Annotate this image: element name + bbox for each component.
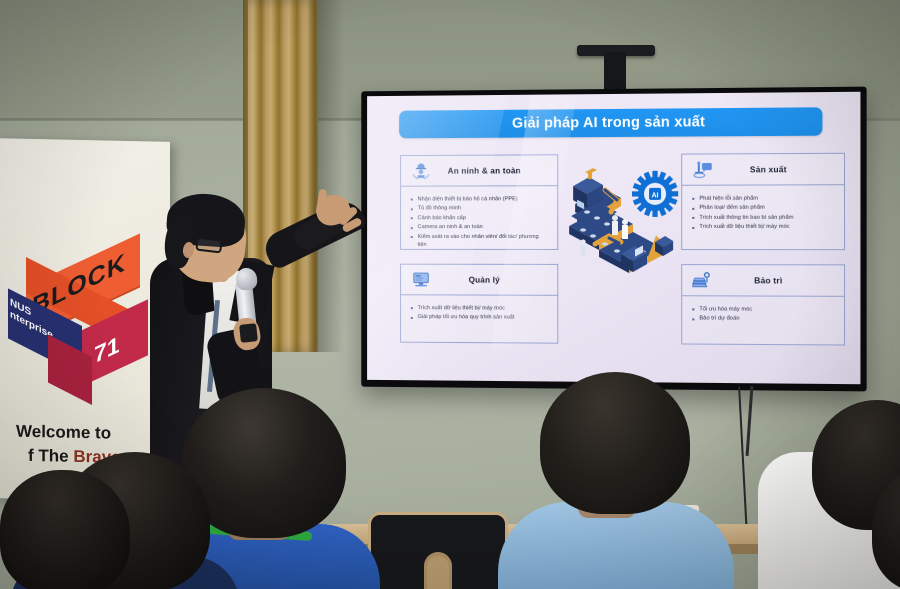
card-body: Trích xuất dữ liệu thiết bị/ máy móc Giả… xyxy=(401,295,557,329)
wood-panel-shadow xyxy=(318,0,344,352)
card-body: Tối ưu hóa máy móc Bảo trì dự đoán xyxy=(682,296,844,331)
card-bullet-list: Tối ưu hóa máy móc Bảo trì dự đoán xyxy=(692,305,835,324)
tv-screen[interactable]: Giải pháp AI trong sản xuất An ninh & an… xyxy=(367,92,860,384)
list-item: Camera an ninh & an toàn xyxy=(411,223,550,231)
monitor-inspection-icon xyxy=(692,159,713,180)
slide-title: Giải pháp AI trong sản xuất xyxy=(399,107,822,138)
list-item: Bảo trì dự đoán xyxy=(692,315,835,324)
card-heading: An ninh & an toàn xyxy=(439,165,557,175)
list-item: Phát hiện lỗi sản phẩm xyxy=(692,194,835,203)
glasses-icon xyxy=(195,236,223,253)
card-heading: Sản xuất xyxy=(722,164,844,175)
card-heading: Bảo trì xyxy=(722,275,844,285)
list-item: Giải pháp tối ưu hóa quy trình sản xuất xyxy=(411,313,550,322)
slide-card-maintenance: Bảo trì Tối ưu hóa máy móc Bảo trì dự đo… xyxy=(681,264,845,345)
isometric-factory-illustration: AI xyxy=(559,160,687,341)
slide-card-security: An ninh & an toàn Nhận diện thiết bị bảo… xyxy=(400,154,558,250)
block71-banner: BLOCK NUS nterprise 71 Welcome to f The … xyxy=(0,138,170,502)
list-item: Kiểm soát ra vào cho nhân viên/ đối tác/… xyxy=(411,233,550,250)
list-item: Trích xuất dữ liệu thiết bị/ máy móc xyxy=(411,304,550,313)
block71-logo: BLOCK NUS nterprise 71 xyxy=(8,248,158,421)
ai-badge-label: AI xyxy=(652,192,659,199)
list-item: Tủ đồ thông minh xyxy=(411,205,550,214)
dashboard-icon xyxy=(411,269,431,290)
list-item: Trích xuất thông tin bao bì sản phẩm xyxy=(692,213,835,222)
slide-card-management: Quản lý Trích xuất dữ liệu thiết bị/ máy… xyxy=(400,264,558,344)
slide-card-production: Sản xuất Phát hiện lỗi sản phẩm Phân loạ… xyxy=(681,153,845,250)
list-item: Phân loại/ đếm sản phẩm xyxy=(692,204,835,213)
card-body: Nhận diện thiết bị bảo hộ cá nhân (PPE) … xyxy=(401,186,557,256)
machine-gear-icon xyxy=(692,270,713,291)
wall-mounted-tv[interactable]: Giải pháp AI trong sản xuất An ninh & an… xyxy=(361,87,866,392)
card-header: An ninh & an toàn xyxy=(401,155,557,186)
card-bullet-list: Trích xuất dữ liệu thiết bị/ máy móc Giả… xyxy=(411,304,550,322)
list-item: Nhận diện thiết bị bảo hộ cá nhân (PPE) xyxy=(411,195,550,204)
banner-tagline-prefix: f The xyxy=(28,446,73,466)
chair-handle-slot-inner xyxy=(427,556,449,589)
attendee-head-far-left xyxy=(0,470,130,589)
card-bullet-list: Nhận diện thiết bị bảo hộ cá nhân (PPE) … xyxy=(411,195,550,249)
attendee-head xyxy=(540,372,690,514)
card-body: Phát hiện lỗi sản phẩm Phân loại/ đếm sả… xyxy=(682,185,844,238)
list-item: Tối ưu hóa máy móc xyxy=(692,305,835,314)
worker-safety-icon xyxy=(411,160,431,181)
banner-tagline-line1: Welcome to xyxy=(16,422,111,444)
conference-room-scene: BLOCK NUS nterprise 71 Welcome to f The … xyxy=(0,0,900,589)
card-bullet-list: Phát hiện lỗi sản phẩm Phân loại/ đếm sả… xyxy=(692,194,835,231)
card-header: Sản xuất xyxy=(682,154,844,186)
card-heading: Quản lý xyxy=(439,275,557,285)
list-item: Trích xuất dữ liệu thiết bị/ máy móc xyxy=(692,223,835,232)
list-item: Cảnh báo khẩn cấp xyxy=(411,214,550,223)
microphone-grip xyxy=(239,323,258,343)
card-header: Quản lý xyxy=(401,265,557,296)
card-header: Bảo trì xyxy=(682,265,844,297)
